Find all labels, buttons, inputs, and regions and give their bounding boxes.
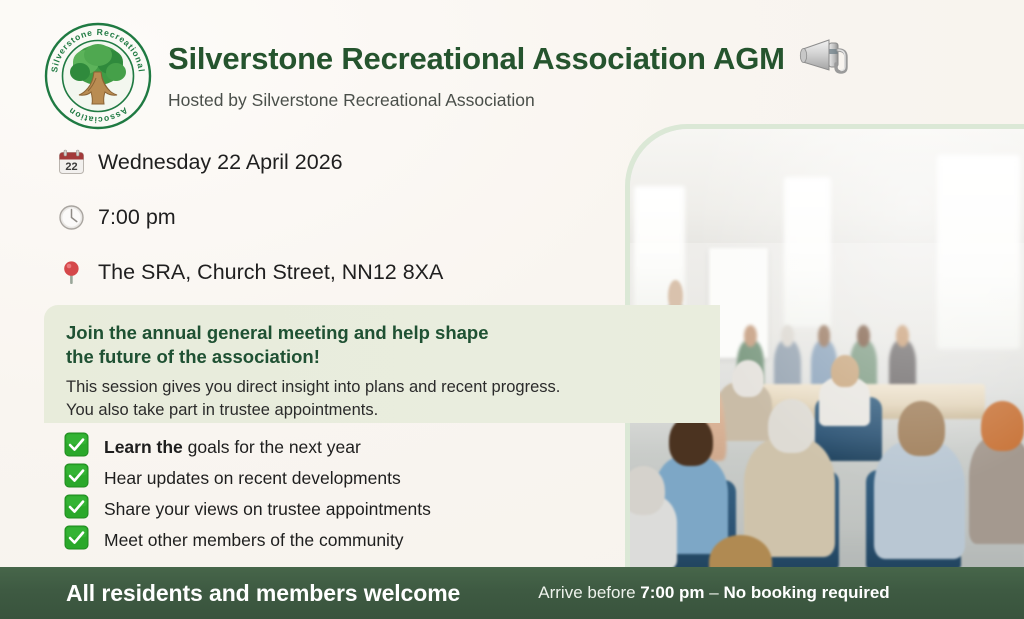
list-item: Meet other members of the community [64, 525, 431, 555]
page-title: Silverstone Recreational Association AGM [168, 41, 785, 77]
detail-location-text: The SRA, Church Street, NN12 8XA [98, 260, 443, 285]
event-details: 22 Wednesday 22 April 2026 7:00 pm [56, 142, 443, 307]
footer-no-booking: No booking required [723, 583, 889, 602]
title-block: Silverstone Recreational Association AGM [168, 22, 851, 111]
page-subtitle: Hosted by Silverstone Recreational Assoc… [168, 90, 851, 111]
list-item-label-rest: goals for the next year [183, 437, 361, 457]
photo-window-mid [784, 177, 831, 327]
footer-arrive-time: 7:00 pm [640, 583, 704, 602]
detail-row-date: 22 Wednesday 22 April 2026 [56, 142, 443, 182]
check-mark-button-icon [64, 525, 92, 555]
highlight-body: This session gives you direct insight in… [66, 376, 700, 421]
check-mark-button-icon [64, 494, 92, 524]
calendar-day-number: 22 [65, 161, 77, 173]
footer-arrive-prefix: Arrive before [538, 583, 640, 602]
list-item: Share your views on trustee appointments [64, 494, 431, 524]
highlight-heading: Join the annual general meeting and help… [66, 321, 700, 368]
list-item-label: Hear updates on recent developments [104, 468, 401, 489]
association-logo: Silverstone Recreational Association [44, 22, 152, 130]
list-item: Learn the goals for the next year [64, 432, 431, 462]
footer-welcome-text: All residents and members welcome [66, 580, 460, 607]
footer-arrival-text: Arrive before 7:00 pm – No booking requi… [538, 583, 889, 603]
poster-header: Silverstone Recreational Association Sil… [44, 22, 851, 130]
highlight-heading-line2: the future of the association! [66, 345, 700, 369]
title-row: Silverstone Recreational Association AGM [168, 36, 851, 81]
highlight-body-line1: This session gives you direct insight in… [66, 376, 700, 398]
detail-row-location: The SRA, Church Street, NN12 8XA [56, 252, 443, 292]
tree-logo-icon: Silverstone Recreational Association [44, 22, 152, 130]
list-item-label: Learn the goals for the next year [104, 437, 361, 458]
event-poster: Silverstone Recreational Association Sil… [0, 0, 1024, 619]
detail-date-text: Wednesday 22 April 2026 [98, 150, 343, 175]
benefits-checklist: Learn the goals for the next year Hear u… [64, 432, 431, 556]
photo-window-right [937, 155, 1020, 349]
list-item-label: Meet other members of the community [104, 530, 404, 551]
highlight-box: Join the annual general meeting and help… [44, 305, 720, 423]
footer-arrive-separator: – [705, 583, 724, 602]
highlight-body-line2: You also take part in trustee appointmen… [66, 399, 700, 421]
loudspeaker-icon [799, 36, 851, 81]
check-mark-button-icon [64, 432, 92, 462]
detail-row-time: 7:00 pm [56, 197, 443, 237]
poster-footer: All residents and members welcome Arrive… [0, 567, 1024, 619]
clock-icon [56, 204, 86, 231]
list-item-label: Share your views on trustee appointments [104, 499, 431, 520]
list-item-label-bold: Learn the [104, 437, 183, 457]
highlight-heading-line1: Join the annual general meeting and help… [66, 321, 700, 345]
check-mark-button-icon [64, 463, 92, 493]
list-item-label-rest: Share your views on trustee appointments [104, 499, 431, 519]
calendar-icon: 22 [56, 149, 86, 176]
list-item: Hear updates on recent developments [64, 463, 431, 493]
map-pin-icon [56, 259, 86, 286]
list-item-label-rest: Hear updates on recent developments [104, 468, 401, 488]
list-item-label-rest: Meet other members of the community [104, 530, 404, 550]
detail-time-text: 7:00 pm [98, 205, 176, 230]
